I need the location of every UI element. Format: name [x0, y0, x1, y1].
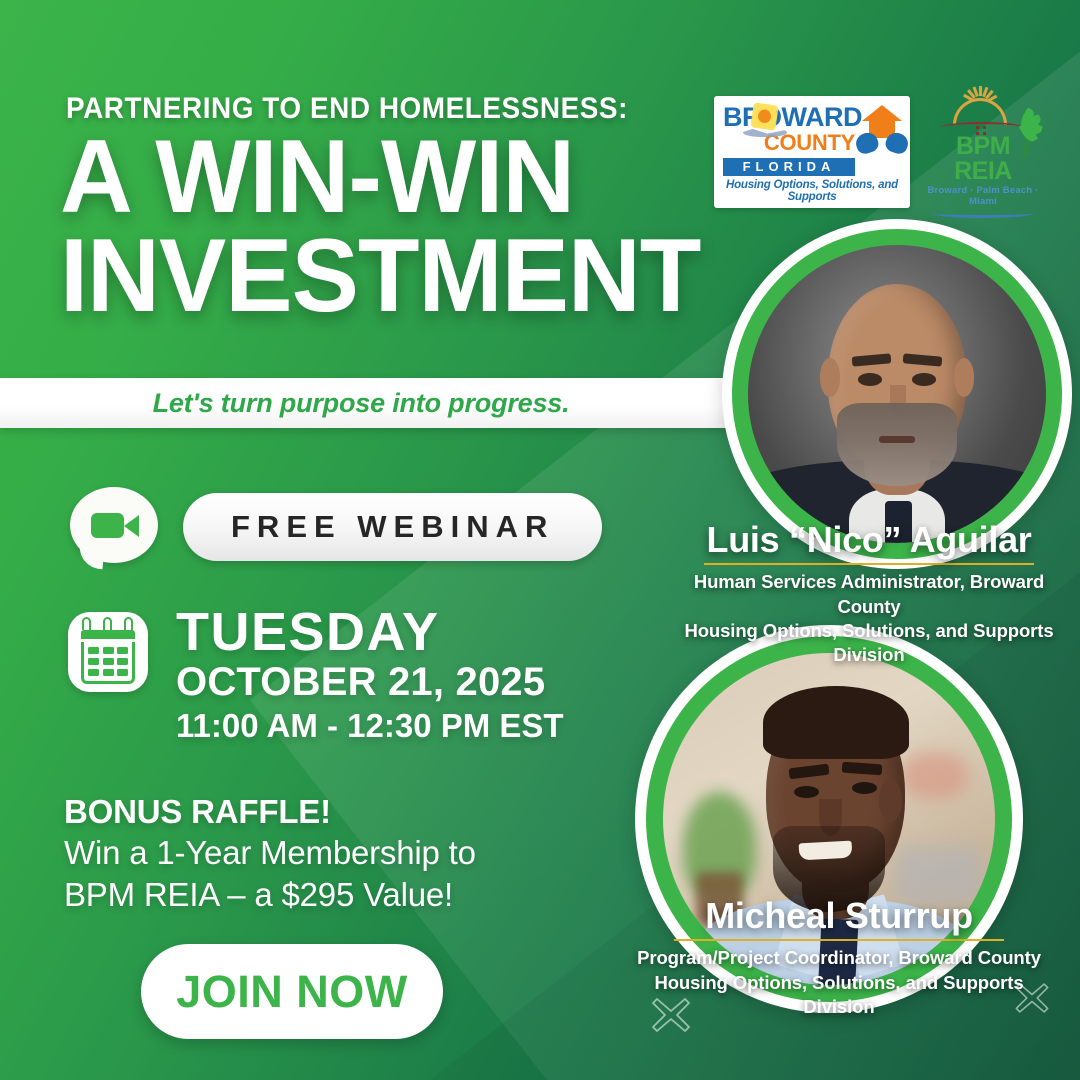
speaker-1-caption: Luis “Nico” Aguilar Human Services Admin… — [660, 520, 1078, 668]
broward-county-logo: BROWARD COUNTY FLORIDA Housing Options, … — [714, 96, 910, 208]
event-date: OCTOBER 21, 2025 — [176, 660, 564, 705]
speaker-2-underline — [674, 939, 1004, 942]
sun-icon — [752, 104, 778, 130]
palm-tree-icon — [1010, 112, 1044, 158]
calendar-icon — [68, 612, 148, 692]
speaker-1-name: Luis “Nico” Aguilar — [660, 520, 1078, 560]
webinar-badge-row: FREE WEBINAR — [70, 487, 602, 567]
free-webinar-label: FREE WEBINAR — [231, 509, 554, 544]
speaker-2-role-line-1: Program/Project Coordinator, Broward Cou… — [630, 946, 1048, 970]
speaker-1-underline — [704, 563, 1034, 566]
bpm-wave-icon — [933, 209, 1033, 218]
x-decoration-icon — [1012, 978, 1052, 1018]
event-date-row: TUESDAY OCTOBER 21, 2025 11:00 AM - 12:3… — [68, 604, 564, 746]
bonus-raffle-title: BONUS RAFFLE! — [64, 793, 476, 832]
webinar-promo-poster: PARTNERING TO END HOMELESSNESS: A WIN-WI… — [0, 0, 1080, 1080]
bpm-reia-logo: BPM REIA Broward · Palm Beach · Miami — [924, 86, 1042, 218]
join-now-label: JOIN NOW — [176, 966, 408, 1018]
free-webinar-badge: FREE WEBINAR — [183, 493, 602, 561]
page-title: A WIN-WIN INVESTMENT — [60, 128, 739, 326]
speaker-1-portrait — [722, 219, 1072, 569]
event-time: 11:00 AM - 12:30 PM EST — [176, 705, 564, 746]
speaker-2-name: Micheal Sturrup — [630, 896, 1048, 936]
broward-logo-county: COUNTY — [723, 132, 855, 154]
broward-logo-name: BROWARD — [723, 104, 855, 131]
tagline-text: Let's turn purpose into progress. — [0, 378, 742, 428]
house-in-hands-icon — [855, 103, 909, 155]
bonus-raffle-line-2: BPM REIA – a $295 Value! — [64, 874, 476, 916]
bonus-raffle-line-1: Win a 1-Year Membership to — [64, 832, 476, 874]
bpm-logo-tagline: Broward · Palm Beach · Miami — [924, 185, 1042, 207]
join-now-button[interactable]: JOIN NOW — [141, 944, 443, 1039]
title-line-2: INVESTMENT — [60, 227, 739, 326]
speaker-1-photo — [748, 245, 1046, 543]
x-decoration-icon — [648, 992, 694, 1038]
logo-group: BROWARD COUNTY FLORIDA Housing Options, … — [714, 86, 1042, 218]
speaker-1-ring — [732, 229, 1062, 559]
broward-logo-tagline: Housing Options, Solutions, and Supports — [723, 179, 901, 203]
speaker-1-role-line-2: Housing Options, Solutions, and Supports… — [660, 619, 1078, 668]
event-day: TUESDAY — [176, 604, 564, 660]
video-chat-bubble-icon — [70, 487, 158, 567]
speaker-1-role-line-1: Human Services Administrator, Broward Co… — [660, 570, 1078, 619]
bonus-raffle-block: BONUS RAFFLE! Win a 1-Year Membership to… — [64, 793, 476, 916]
broward-logo-state: FLORIDA — [723, 158, 855, 176]
